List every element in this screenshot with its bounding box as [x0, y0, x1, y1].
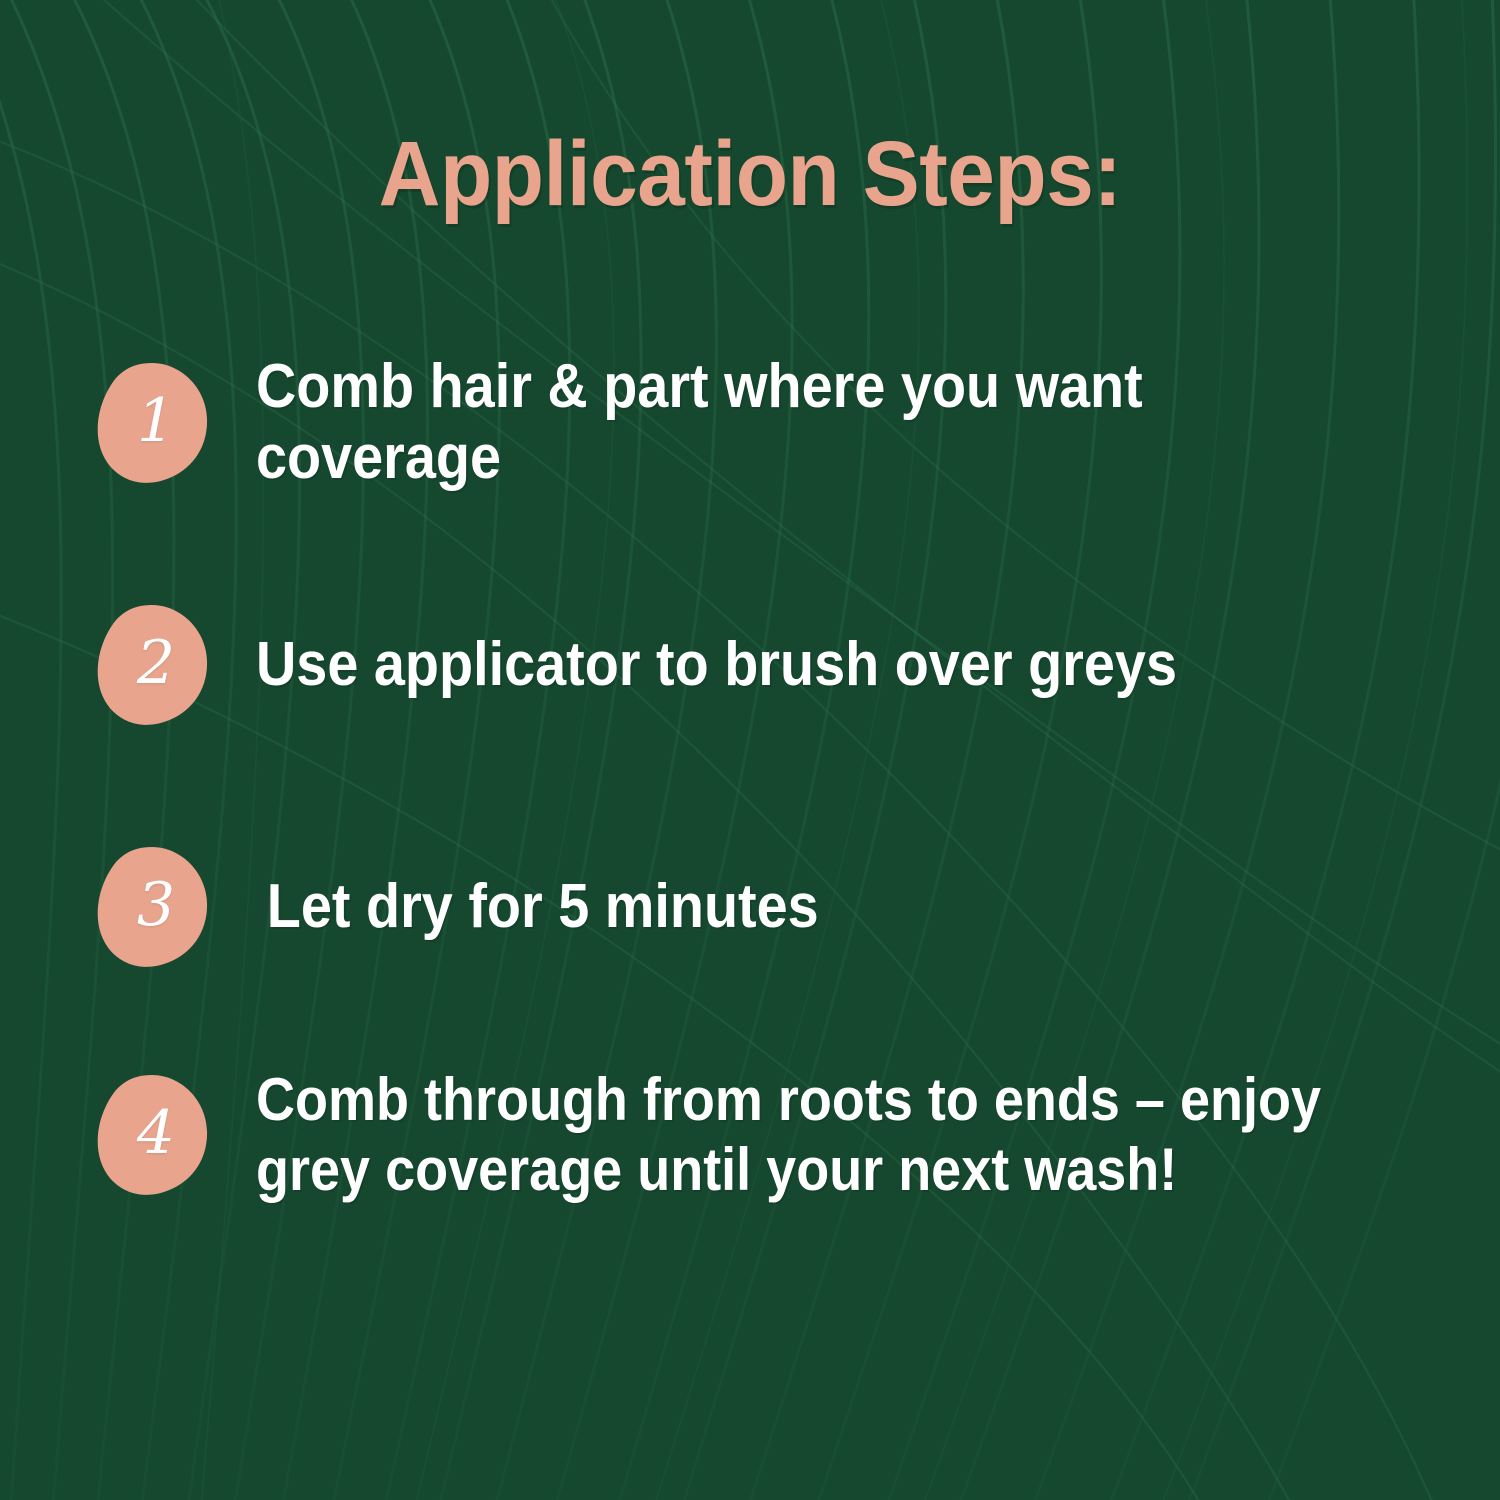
- step-item-3: 3 Let dry for 5 minutes: [0, 822, 1500, 992]
- step-number-badge-1: 1: [96, 361, 208, 485]
- step-description-1: Comb hair & part where you want coverage: [256, 352, 1376, 493]
- step-description-2: Use applicator to brush over greys: [256, 630, 1177, 701]
- step-description-3: Let dry for 5 minutes: [256, 872, 819, 943]
- steps-list: 1 Comb hair & part where you want covera…: [0, 338, 1500, 1220]
- step-item-1: 1 Comb hair & part where you want covera…: [0, 338, 1500, 508]
- application-steps-poster: Application Steps: 1 Comb hair & part wh…: [0, 0, 1500, 1500]
- step-number-badge-2: 2: [96, 603, 208, 727]
- step-number-1: 1: [96, 361, 208, 485]
- step-number-badge-3: 3: [96, 845, 208, 969]
- step-item-4: 4 Comb through from roots to ends – enjo…: [0, 1050, 1500, 1220]
- step-number-4: 4: [96, 1073, 208, 1197]
- step-description-4: Comb through from roots to ends – enjoy …: [256, 1065, 1321, 1204]
- step-number-2: 2: [96, 603, 208, 727]
- step-number-badge-4: 4: [96, 1073, 208, 1197]
- step-item-2: 2 Use applicator to brush over greys: [0, 580, 1500, 750]
- step-number-3: 3: [96, 845, 208, 969]
- page-title: Application Steps:: [53, 128, 1448, 220]
